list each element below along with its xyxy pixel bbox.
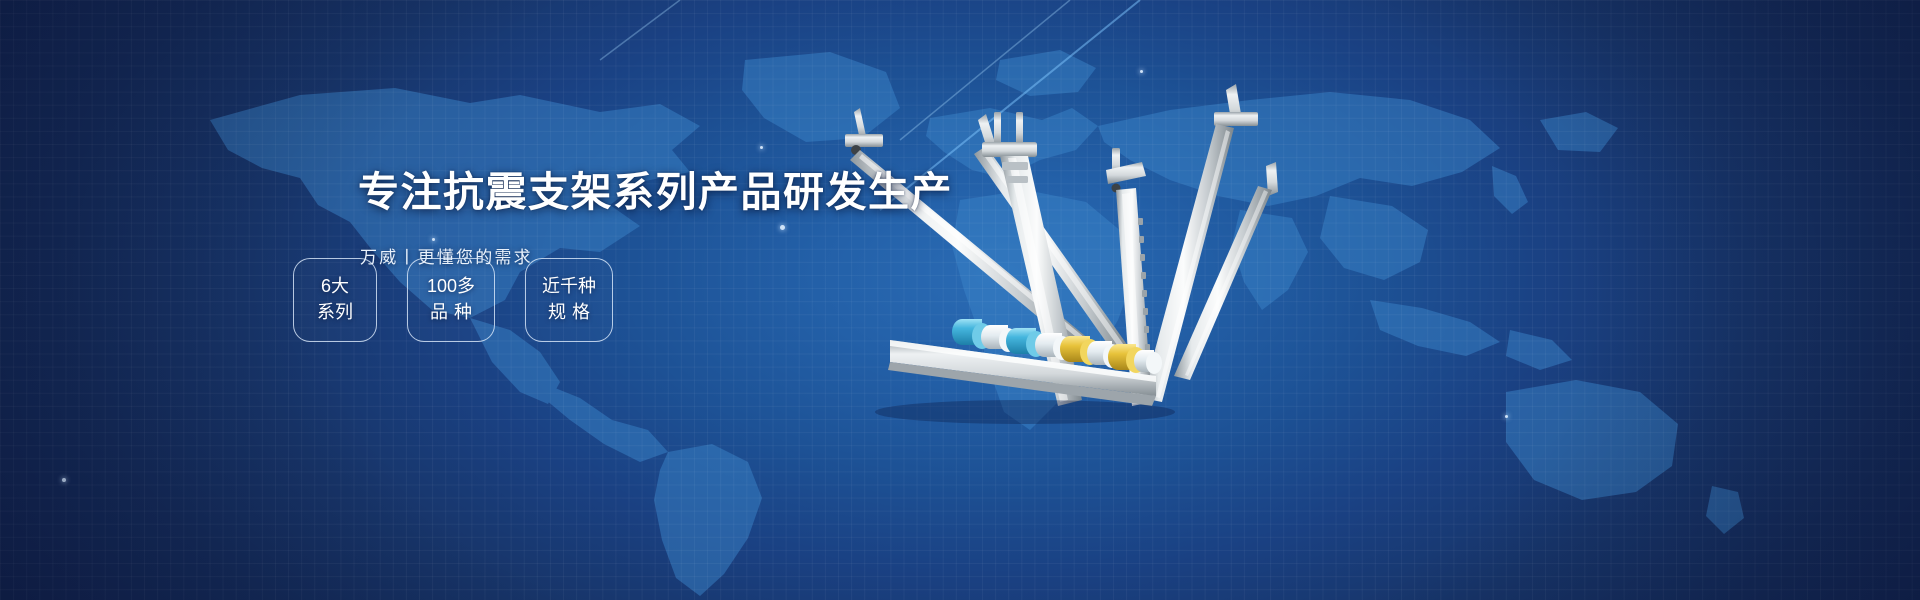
page-title: 专注抗震支架系列产品研发生产 <box>358 170 918 216</box>
status-badge: 近千种 规格 <box>525 258 613 342</box>
badge-line-2: 规格 <box>548 300 596 326</box>
status-badge: 100多 品种 <box>407 258 495 342</box>
badge-line-2: 系列 <box>317 300 353 326</box>
hero-copy: 专注抗震支架系列产品研发生产 万威丨更懂您的需求 <box>358 170 918 268</box>
badge-line-1: 100多 <box>427 274 475 300</box>
hero-banner: 专注抗震支架系列产品研发生产 万威丨更懂您的需求 6大 系列 100多 品种 近… <box>0 0 1920 600</box>
badge-line-1: 近千种 <box>542 274 596 300</box>
badge-line-1: 6大 <box>321 274 349 300</box>
badge-line-2: 品种 <box>430 300 478 326</box>
feature-badges: 6大 系列 100多 品种 近千种 规格 <box>293 258 613 342</box>
status-badge: 6大 系列 <box>293 258 377 342</box>
